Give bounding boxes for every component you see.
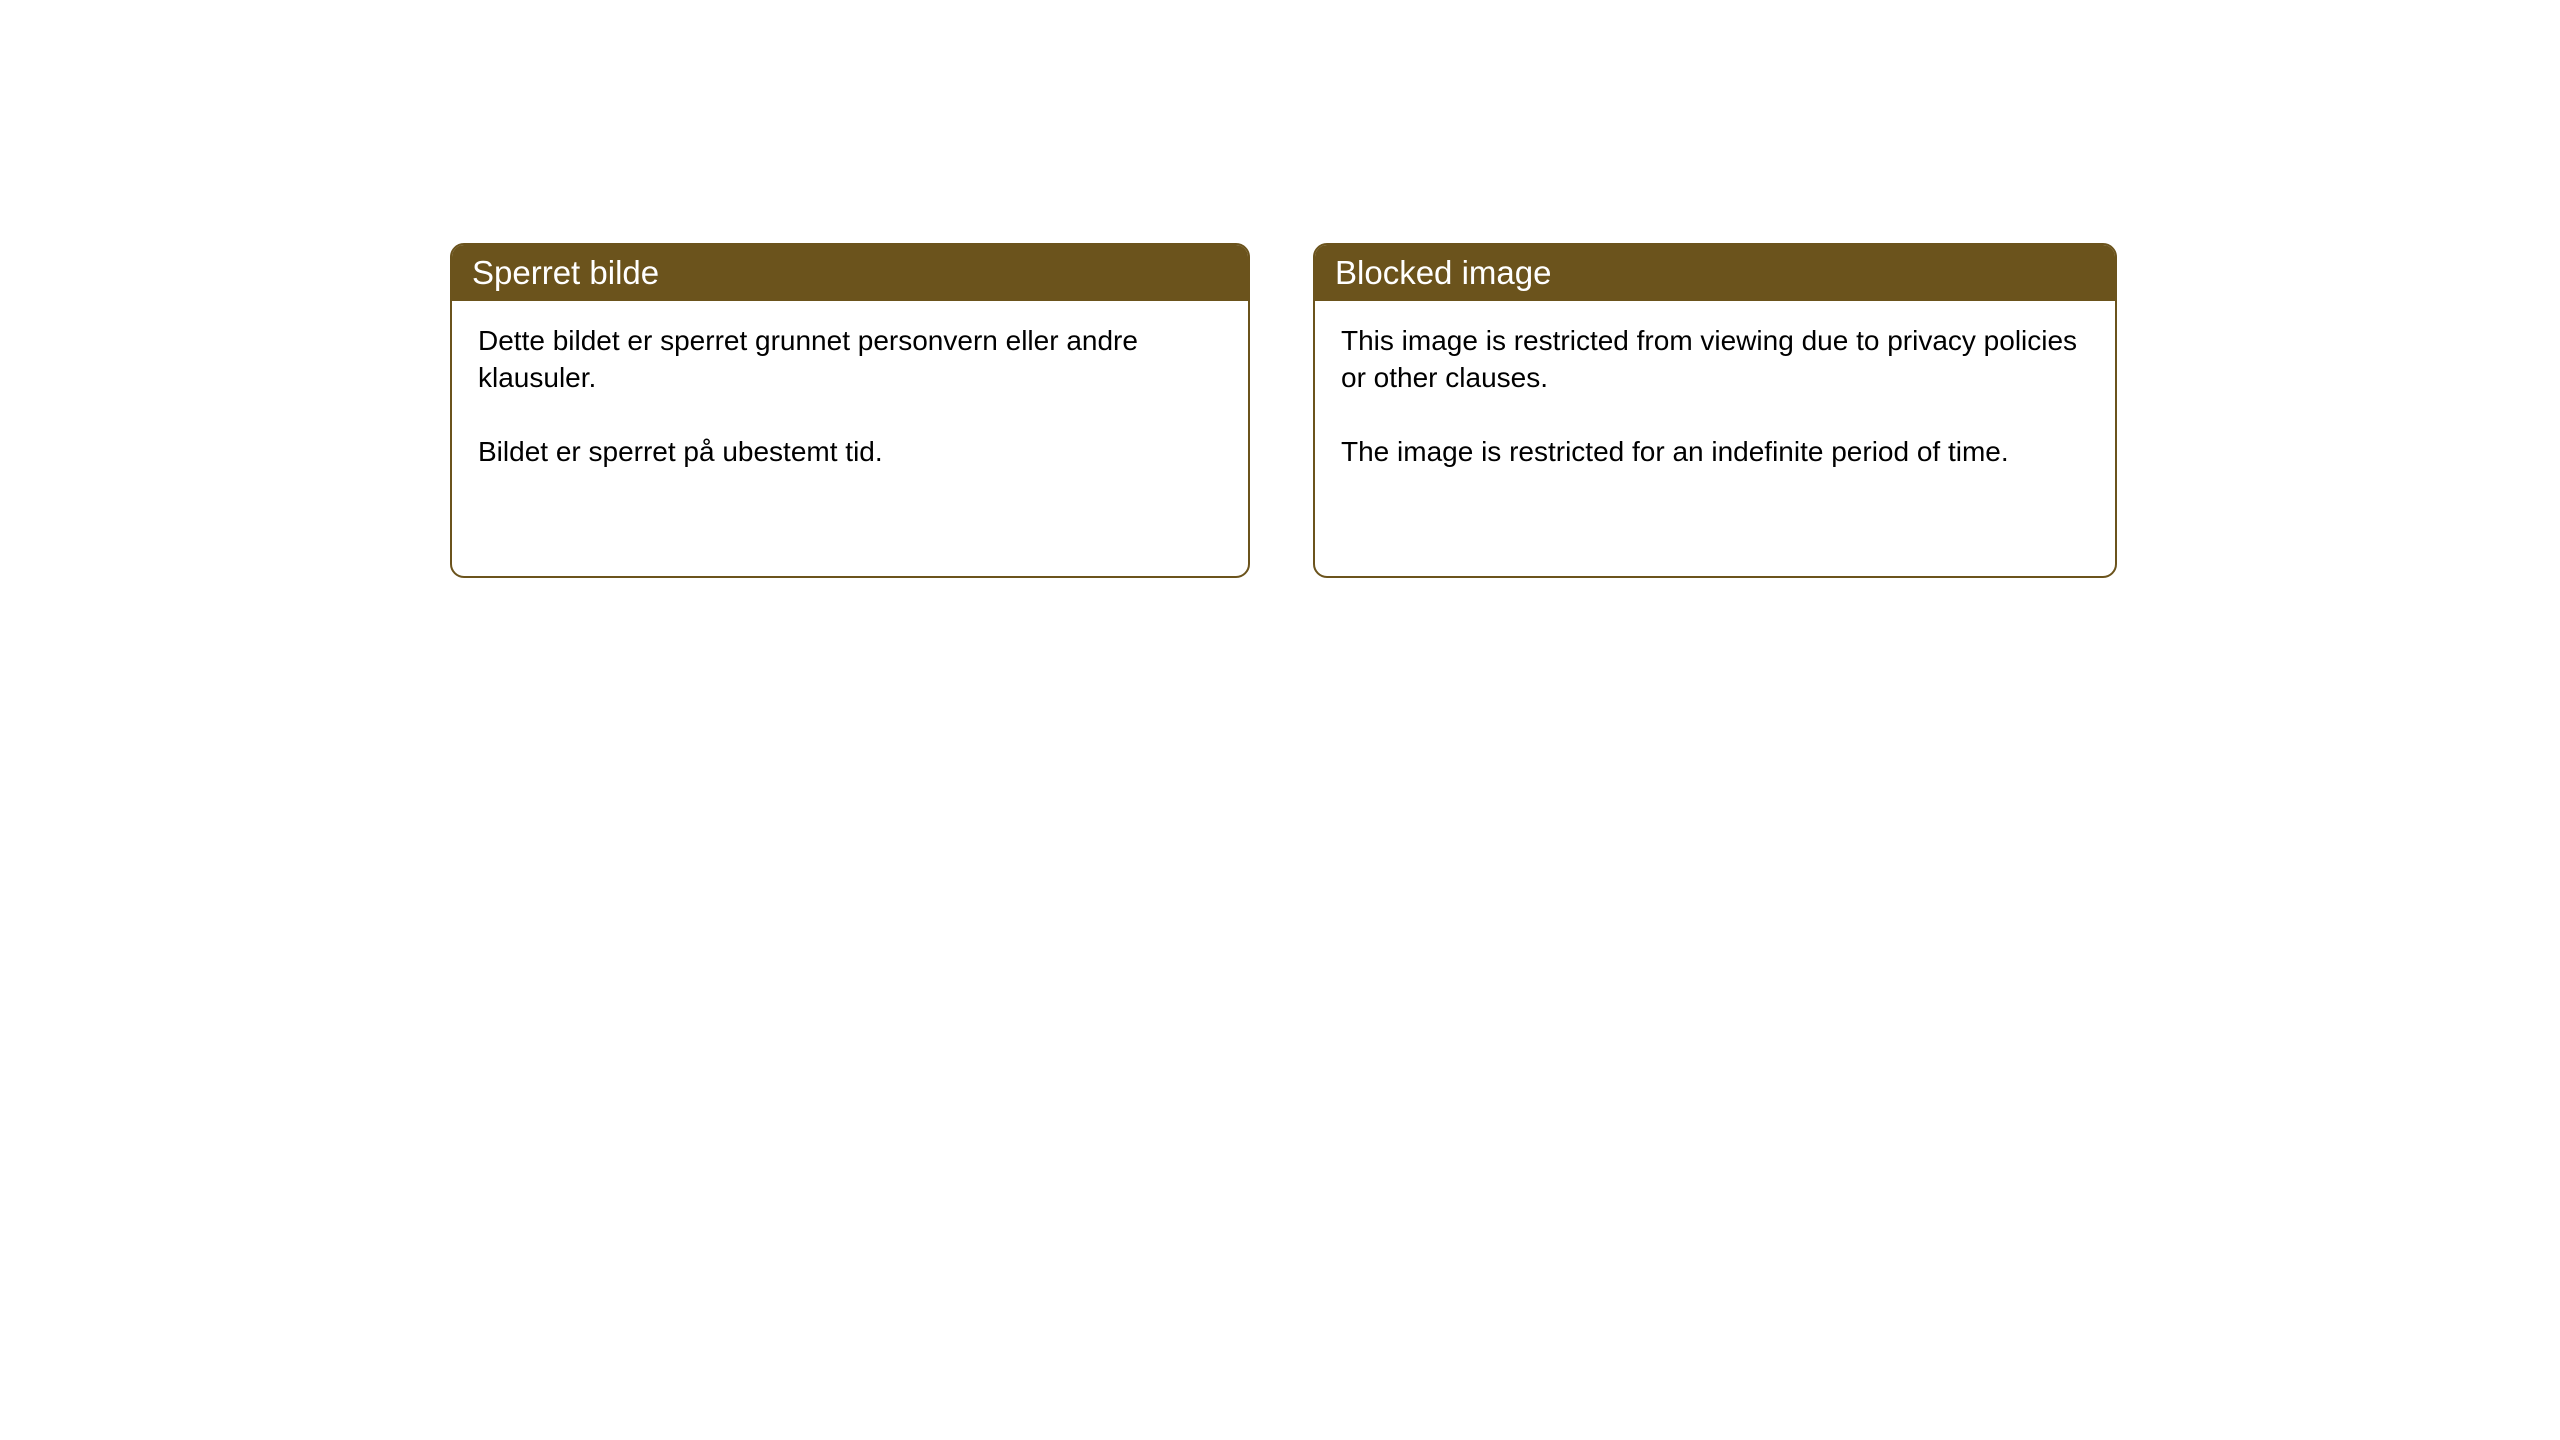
card-title-english: Blocked image	[1335, 256, 1551, 289]
card-header-norwegian: Sperret bilde	[450, 243, 1250, 301]
blocked-image-card-norwegian: Sperret bilde Dette bildet er sperret gr…	[450, 243, 1250, 578]
blocked-image-card-english: Blocked image This image is restricted f…	[1313, 243, 2117, 578]
card-title-norwegian: Sperret bilde	[472, 256, 659, 289]
card-paragraph-reason-english: This image is restricted from viewing du…	[1341, 323, 2089, 397]
card-paragraph-duration-english: The image is restricted for an indefinit…	[1341, 434, 2089, 471]
card-body-norwegian: Dette bildet er sperret grunnet personve…	[452, 301, 1248, 576]
card-header-english: Blocked image	[1313, 243, 2117, 301]
card-paragraph-reason-norwegian: Dette bildet er sperret grunnet personve…	[478, 323, 1222, 397]
card-body-english: This image is restricted from viewing du…	[1315, 301, 2115, 576]
blocked-image-notice-group: Sperret bilde Dette bildet er sperret gr…	[450, 243, 2117, 578]
card-paragraph-duration-norwegian: Bildet er sperret på ubestemt tid.	[478, 434, 1222, 471]
